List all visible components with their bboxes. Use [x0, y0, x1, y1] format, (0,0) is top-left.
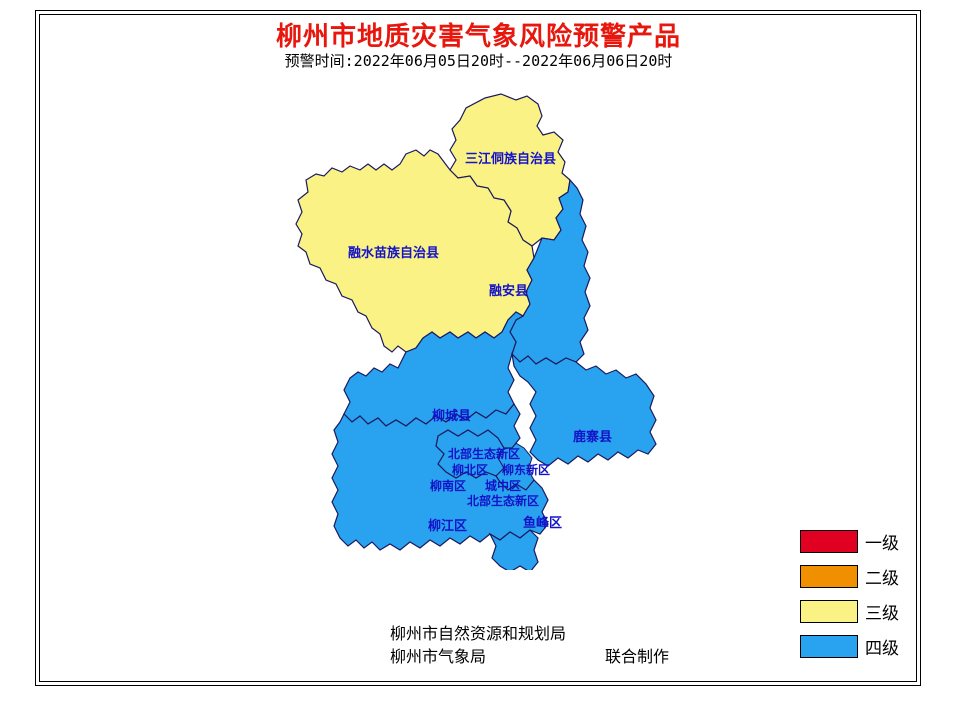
risk-map: 三江侗族自治县 融水苗族自治县 融安县 柳城县 鹿寨县 北部生态新区 柳北区 柳…	[280, 80, 700, 570]
map-label-liudong-xinqu: 柳东新区	[502, 464, 550, 476]
region-shape-luzhai	[512, 354, 656, 466]
map-label-luzhai: 鹿寨县	[573, 431, 612, 444]
warning-time-subtitle: 预警时间:2022年06月05日20时--2022年06月06日20时	[0, 50, 957, 71]
map-label-rongshui: 融水苗族自治县	[348, 247, 439, 260]
footer: 柳州市自然资源和规划局 柳州市气象局 联合制作	[390, 622, 750, 668]
map-label-liunan: 柳南区	[430, 480, 466, 492]
legend-item-level3: 三级	[800, 598, 910, 624]
legend-item-level1: 一级	[800, 528, 910, 554]
legend-label-level2: 二级	[865, 564, 899, 589]
legend-label-level3: 三级	[865, 599, 899, 624]
map-label-beibu-shengtai-xinqu-north: 北部生态新区	[448, 448, 520, 460]
footer-agency-2: 柳州市气象局	[390, 647, 486, 666]
legend: 一级 二级 三级 四级	[800, 528, 910, 668]
legend-swatch-level4	[800, 635, 858, 658]
map-label-yufeng: 鱼峰区	[523, 517, 562, 530]
footer-joint-label: 联合制作	[605, 645, 669, 668]
map-label-liujiang: 柳江区	[428, 520, 467, 533]
footer-line-2: 柳州市气象局 联合制作	[390, 645, 750, 668]
legend-swatch-level2	[800, 565, 858, 588]
page-title: 柳州市地质灾害气象风险预警产品	[0, 16, 957, 53]
map-label-rongan: 融安县	[489, 285, 528, 298]
footer-line-1: 柳州市自然资源和规划局	[390, 622, 750, 645]
map-label-liucheng: 柳城县	[432, 410, 471, 423]
legend-item-level4: 四级	[800, 633, 910, 659]
legend-label-level1: 一级	[865, 529, 899, 554]
legend-item-level2: 二级	[800, 563, 910, 589]
legend-swatch-level1	[800, 530, 858, 553]
legend-swatch-level3	[800, 600, 858, 623]
map-label-liubei: 柳北区	[452, 464, 488, 476]
map-label-chengzhong: 城中区	[485, 480, 521, 492]
map-label-sanjiang: 三江侗族自治县	[465, 153, 556, 166]
legend-label-level4: 四级	[865, 634, 899, 659]
map-label-beibu-shengtai-xinqu-south: 北部生态新区	[467, 495, 539, 507]
